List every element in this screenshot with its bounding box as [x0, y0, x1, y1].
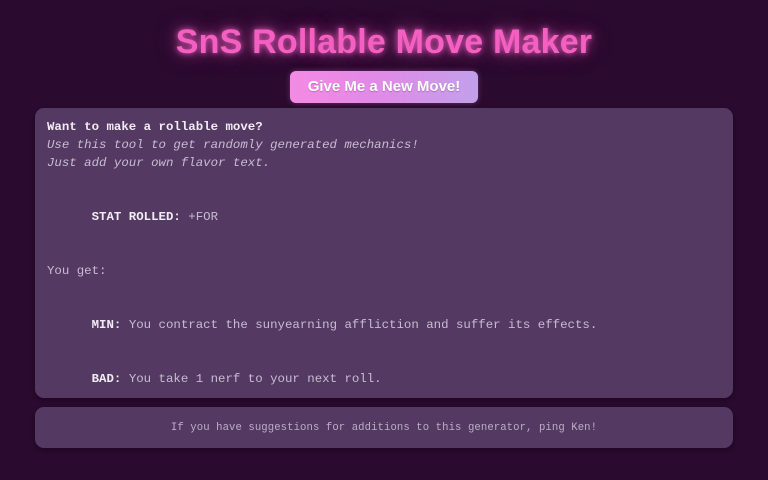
outcome-text-min: You contract the sunyearning affliction …: [129, 318, 597, 332]
footer-panel: If you have suggestions for additions to…: [35, 407, 733, 448]
stat-rolled-label: STAT ROLLED:: [92, 210, 181, 224]
outcome-label-bad: BAD:: [92, 372, 122, 386]
prompt-heading: Want to make a rollable move?: [47, 118, 721, 136]
tagline-line-2: Just add your own flavor text.: [47, 154, 721, 172]
move-output-panel: Want to make a rollable move? Use this t…: [35, 108, 733, 398]
outcome-row-bad: BAD: You take 1 nerf to your next roll.: [47, 352, 721, 398]
stat-rolled-row: STAT ROLLED: +FOR: [47, 190, 721, 244]
you-get-label: You get:: [47, 262, 721, 280]
button-row: Give Me a New Move!: [0, 71, 768, 103]
tagline-line-1: Use this tool to get randomly generated …: [47, 136, 721, 154]
header: SnS Rollable Move Maker Give Me a New Mo…: [0, 0, 768, 103]
give-me-a-new-move-button[interactable]: Give Me a New Move!: [290, 71, 479, 103]
outcome-label-min: MIN:: [92, 318, 122, 332]
outcome-row-min: MIN: You contract the sunyearning afflic…: [47, 298, 721, 352]
footer-note: If you have suggestions for additions to…: [171, 422, 597, 434]
spacer-3: [47, 280, 721, 298]
spacer-1: [47, 172, 721, 190]
spacer-2: [47, 244, 721, 262]
stat-rolled-value: +FOR: [188, 210, 218, 224]
outcome-text-bad: You take 1 nerf to your next roll.: [129, 372, 382, 386]
page-title: SnS Rollable Move Maker: [0, 24, 768, 61]
page-root: SnS Rollable Move Maker Give Me a New Mo…: [0, 0, 768, 480]
